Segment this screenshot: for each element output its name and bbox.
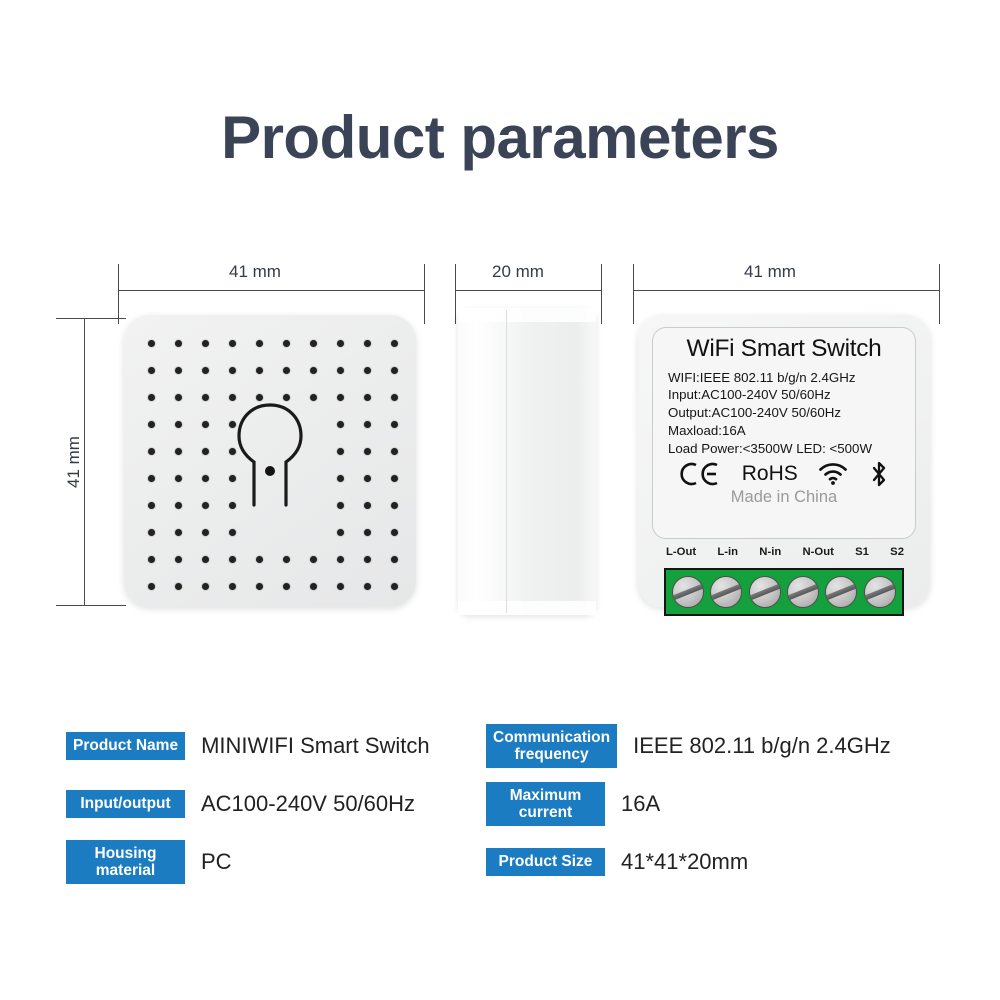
- spec-value-maximum-current: 16A: [621, 791, 660, 817]
- vent-dot: [337, 556, 344, 563]
- screw-terminal[interactable]: [825, 576, 857, 608]
- vent-dot: [148, 340, 155, 347]
- vent-dot: [148, 367, 155, 374]
- vent-dot: [202, 583, 209, 590]
- side-bottom-band: [458, 601, 596, 615]
- vent-dot: [202, 556, 209, 563]
- dim-label-front-height: 41 mm: [64, 432, 84, 492]
- vent-dot: [256, 556, 263, 563]
- spec-value-communication-frequency: IEEE 802.11 b/g/n 2.4GHz: [633, 733, 891, 759]
- spec-key-communication-frequency: Communication frequency: [486, 724, 617, 769]
- dim-extension-front-left: [118, 264, 119, 324]
- spec-value-input-output: AC100-240V 50/60Hz: [201, 791, 415, 817]
- vent-dot: [391, 421, 398, 428]
- label-spec-input: Input:AC100-240V 50/60Hz: [663, 386, 905, 404]
- vent-dot: [337, 421, 344, 428]
- vent-dot: [148, 529, 155, 536]
- spec-key-line-2: current: [519, 804, 572, 821]
- vent-dot: [364, 502, 371, 509]
- dim-extension-height-bottom: [56, 605, 126, 606]
- certification-row: RoHS: [663, 461, 905, 487]
- vent-dot: [391, 394, 398, 401]
- vent-dot: [229, 583, 236, 590]
- side-view: [458, 308, 596, 615]
- dim-extension-front-right: [424, 264, 425, 324]
- vent-dot: [337, 448, 344, 455]
- vent-dot: [202, 475, 209, 482]
- bluetooth-icon: [869, 461, 889, 487]
- terminal-label-l-out: L-Out: [666, 546, 696, 558]
- vent-dot: [364, 421, 371, 428]
- vent-dot: [175, 583, 182, 590]
- vent-dot: [202, 421, 209, 428]
- vent-dot: [148, 502, 155, 509]
- terminal-label-s2: S2: [890, 546, 904, 558]
- vent-dot: [337, 502, 344, 509]
- vent-dot: [310, 367, 317, 374]
- power-button-icon[interactable]: [225, 399, 315, 511]
- spec-value-product-name: MINIWIFI Smart Switch: [201, 733, 430, 759]
- spec-key-housing-material: Housing material: [66, 840, 185, 885]
- vent-dot: [283, 556, 290, 563]
- vent-dot: [364, 556, 371, 563]
- screw-terminal[interactable]: [864, 576, 896, 608]
- vent-dot: [175, 475, 182, 482]
- rohs-mark-label: RoHS: [742, 462, 798, 486]
- vent-dot: [256, 583, 263, 590]
- terminal-label-n-in: N-in: [759, 546, 781, 558]
- vent-dot: [391, 556, 398, 563]
- vent-dot: [202, 394, 209, 401]
- vent-dot: [256, 340, 263, 347]
- label-spec-loadpower: Load Power:<3500W LED: <500W: [663, 440, 905, 458]
- vent-dot: [175, 421, 182, 428]
- vent-dot: [337, 367, 344, 374]
- label-spec-maxload: Maxload:16A: [663, 422, 905, 440]
- vent-dot: [364, 367, 371, 374]
- label-title: WiFi Smart Switch: [663, 337, 905, 362]
- vent-dot: [202, 502, 209, 509]
- vent-dot: [337, 394, 344, 401]
- vent-dot: [391, 529, 398, 536]
- terminal-label-s1: S1: [855, 546, 869, 558]
- screw-terminal[interactable]: [672, 576, 704, 608]
- vent-dot: [364, 394, 371, 401]
- spec-key-line-1: Housing: [95, 845, 157, 862]
- dim-line-side-width: [455, 290, 602, 291]
- vent-dot: [391, 475, 398, 482]
- spec-key-maximum-current: Maximum current: [486, 782, 605, 827]
- vent-dot: [337, 529, 344, 536]
- vent-dot: [391, 340, 398, 347]
- vent-dot: [175, 556, 182, 563]
- spec-row-communication-frequency: Communication frequency IEEE 802.11 b/g/…: [486, 718, 966, 774]
- side-seam-line: [506, 310, 507, 613]
- dim-line-front-width: [118, 290, 425, 291]
- vent-dot: [175, 340, 182, 347]
- spec-key-line-2: material: [96, 862, 155, 879]
- spec-key-input-output: Input/output: [66, 790, 185, 817]
- spec-row-product-name: Product Name MINIWIFI Smart Switch: [66, 718, 486, 774]
- vent-dot: [391, 448, 398, 455]
- vent-dot: [391, 502, 398, 509]
- vent-dot: [364, 529, 371, 536]
- vent-dot: [175, 529, 182, 536]
- vent-dot: [283, 583, 290, 590]
- product-label: WiFi Smart Switch WIFI:IEEE 802.11 b/g/n…: [652, 327, 916, 539]
- vent-dot: [283, 367, 290, 374]
- dim-extension-back-right: [939, 264, 940, 324]
- wifi-icon: [818, 462, 848, 486]
- vent-dot: [256, 367, 263, 374]
- dim-line-front-height: [84, 318, 85, 606]
- vent-dot: [229, 529, 236, 536]
- vent-dot: [391, 583, 398, 590]
- spec-row-input-output: Input/output AC100-240V 50/60Hz: [66, 776, 486, 832]
- vent-dot: [148, 394, 155, 401]
- vent-dot: [364, 448, 371, 455]
- vent-dot: [229, 367, 236, 374]
- vent-dot: [337, 475, 344, 482]
- vent-dot: [202, 367, 209, 374]
- vent-dot: [148, 421, 155, 428]
- vent-dot: [175, 448, 182, 455]
- dim-extension-height-top: [56, 318, 126, 319]
- terminal-label-row: L-Out L-in N-in N-Out S1 S2: [660, 546, 910, 558]
- dim-label-back-width: 41 mm: [744, 262, 796, 282]
- spec-row-product-size: Product Size 41*41*20mm: [486, 834, 966, 890]
- dim-label-side-width: 20 mm: [492, 262, 544, 282]
- spec-value-housing-material: PC: [201, 849, 232, 875]
- label-spec-output: Output:AC100-240V 50/60Hz: [663, 404, 905, 422]
- spec-key-product-size: Product Size: [486, 848, 605, 875]
- vent-dot: [175, 502, 182, 509]
- vent-dot: [337, 583, 344, 590]
- vent-dot: [337, 340, 344, 347]
- product-diagram: 41 mm 20 mm 41 mm 41 mm WiFi Smart Switc…: [0, 0, 1000, 700]
- dim-extension-back-left: [633, 264, 634, 324]
- spec-key-line-2: frequency: [515, 746, 589, 763]
- vent-dot: [148, 448, 155, 455]
- vent-dot: [310, 340, 317, 347]
- back-view: WiFi Smart Switch WIFI:IEEE 802.11 b/g/n…: [638, 315, 930, 607]
- vent-dot: [148, 475, 155, 482]
- dim-extension-side-left: [455, 264, 456, 324]
- dim-line-back-width: [633, 290, 940, 291]
- spec-row-maximum-current: Maximum current 16A: [486, 776, 966, 832]
- vent-dot: [310, 583, 317, 590]
- ce-mark-icon: [679, 461, 721, 487]
- dim-extension-side-right: [601, 264, 602, 324]
- vent-dot: [202, 448, 209, 455]
- vent-dot: [202, 529, 209, 536]
- terminal-label-n-out: N-Out: [803, 546, 834, 558]
- screw-terminal[interactable]: [787, 576, 819, 608]
- label-spec-wifi: WIFI:IEEE 802.11 b/g/n 2.4GHz: [663, 369, 905, 387]
- spec-table: Product Name MINIWIFI Smart Switch Commu…: [0, 718, 1000, 890]
- vent-dot: [364, 475, 371, 482]
- vent-dot: [364, 583, 371, 590]
- vent-dot: [229, 340, 236, 347]
- vent-dot: [175, 394, 182, 401]
- screw-terminal[interactable]: [749, 576, 781, 608]
- front-view: [124, 315, 416, 607]
- vent-dot: [148, 556, 155, 563]
- spec-key-product-name: Product Name: [66, 732, 185, 759]
- terminal-label-l-in: L-in: [717, 546, 738, 558]
- origin-label: Made in China: [663, 488, 905, 507]
- vent-dot: [283, 340, 290, 347]
- side-top-band: [458, 308, 596, 322]
- vent-dot: [202, 340, 209, 347]
- vent-dot: [364, 340, 371, 347]
- vent-dot: [310, 556, 317, 563]
- spec-row-housing-material: Housing material PC: [66, 834, 486, 890]
- spec-value-product-size: 41*41*20mm: [621, 849, 748, 875]
- spec-key-line-1: Maximum: [510, 787, 582, 804]
- vent-dot: [391, 367, 398, 374]
- spec-key-line-1: Communication: [493, 729, 610, 746]
- vent-dot: [229, 556, 236, 563]
- screw-terminal[interactable]: [710, 576, 742, 608]
- vent-dot: [148, 583, 155, 590]
- vent-dot: [175, 367, 182, 374]
- dim-label-front-width: 41 mm: [229, 262, 281, 282]
- terminal-block: [664, 568, 904, 616]
